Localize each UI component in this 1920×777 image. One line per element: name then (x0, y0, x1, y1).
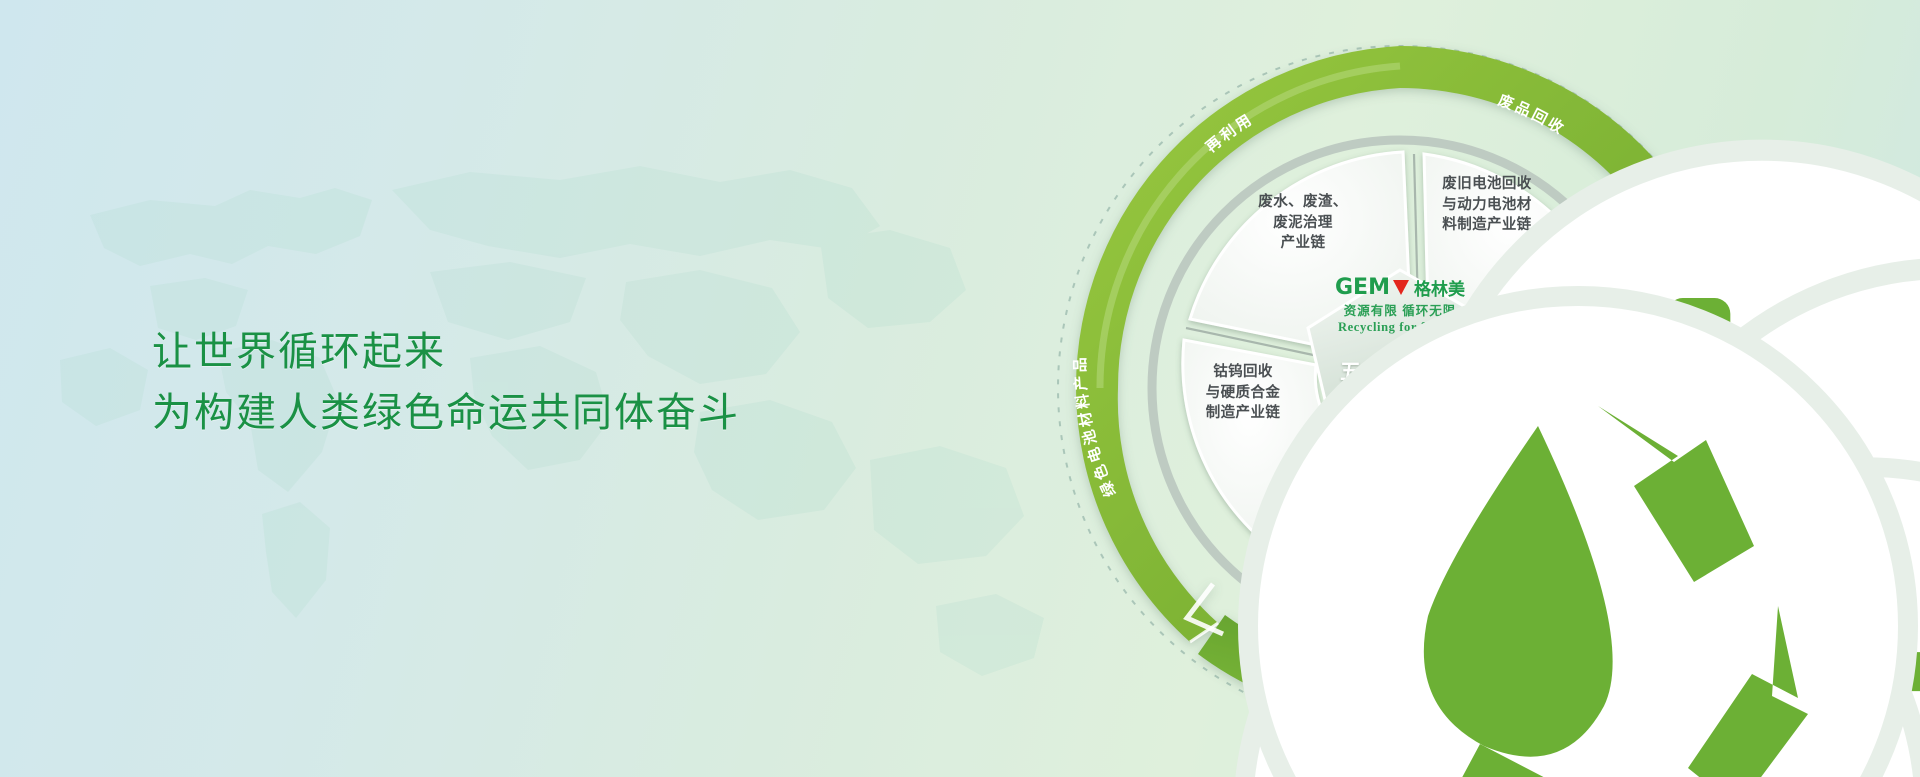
headline-line-2: 为构建人类绿色命运共同体奋斗 (152, 383, 740, 444)
headline: 让世界循环起来 为构建人类绿色命运共同体奋斗 (152, 322, 740, 444)
industry-chain-diagram: 废品回收 材料制造 金属材料 绿色电池材料产品 再利用 (1020, 8, 1780, 768)
hero-banner: 让世界循环起来 为构建人类绿色命运共同体奋斗 (0, 0, 1920, 777)
headline-line-1: 让世界循环起来 (152, 322, 740, 383)
recycle-drop-icon-bubble (1198, 246, 1920, 777)
